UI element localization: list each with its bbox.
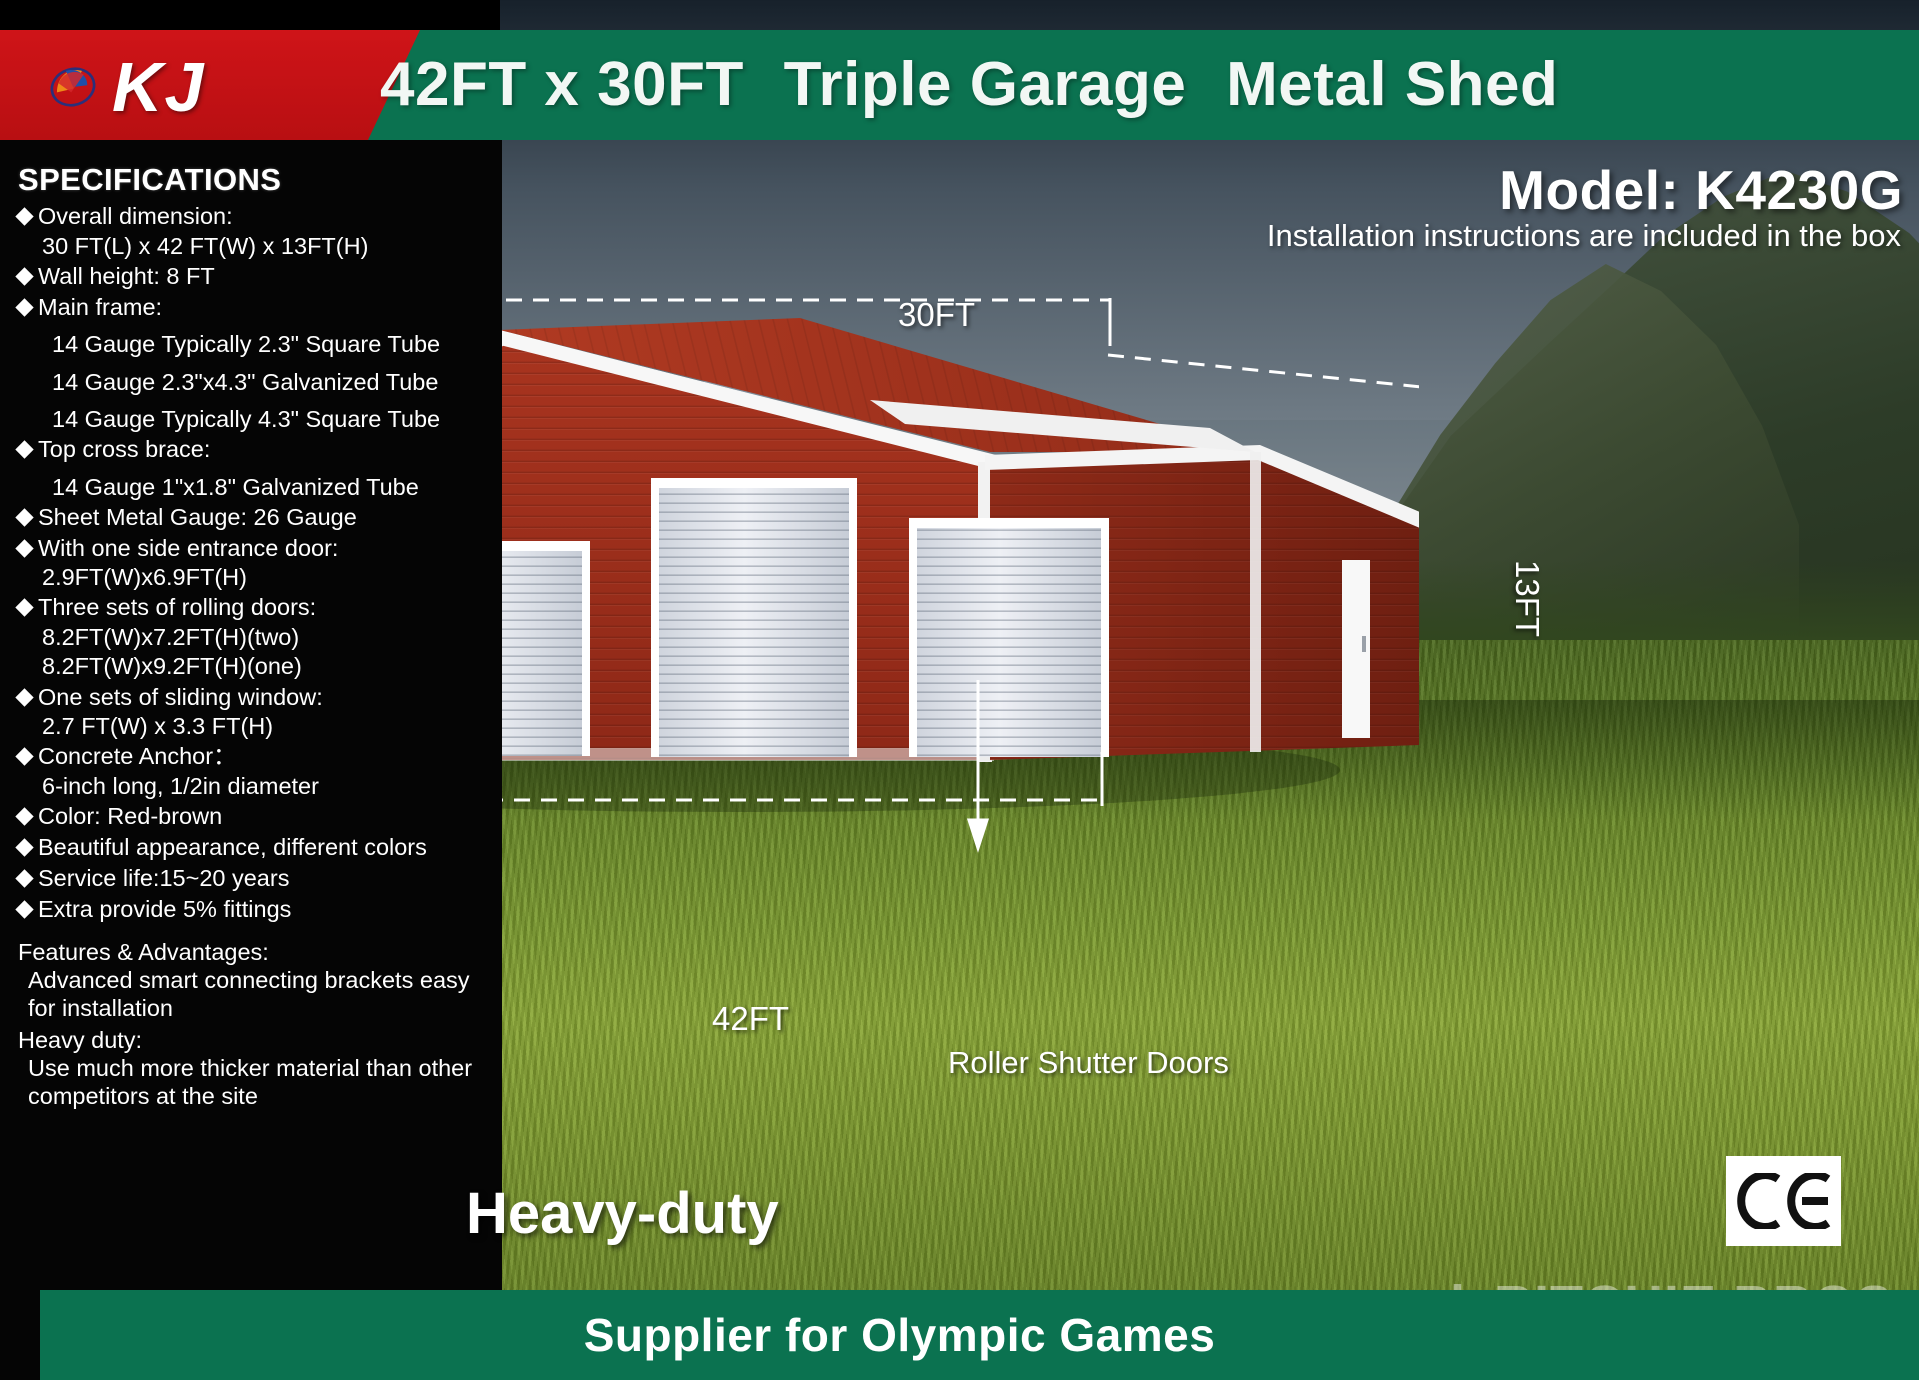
title-size: 42FT x 30FT	[380, 50, 744, 119]
heavy-duty-line-1: Use much more thicker material than othe…	[28, 1054, 488, 1082]
spec-sub-label: 14 Gauge 1"x1.8" Galvanized Tube	[52, 473, 488, 501]
spec-item: With one side entrance door:	[18, 535, 488, 563]
specifications-list: Overall dimension:30 FT(L) x 42 FT(W) x …	[18, 203, 488, 923]
spec-item-label: Extra provide 5% fittings	[38, 896, 291, 924]
diamond-bullet-icon	[15, 900, 33, 918]
footer-left-corner	[0, 1290, 40, 1380]
page-title: 42FT x 30FT Triple Garage Metal Shed	[380, 54, 1880, 116]
spec-item: Top cross brace:	[18, 436, 488, 464]
spec-item-label: With one side entrance door:	[38, 535, 338, 563]
footer-text: Supplier for Olympic Games	[0, 1290, 1919, 1380]
kj-swoosh-logo-icon	[46, 62, 100, 112]
diamond-bullet-icon	[15, 748, 33, 766]
spec-item-label: Wall height: 8 FT	[38, 263, 215, 291]
spec-item: Sheet Metal Gauge: 26 Gauge	[18, 504, 488, 532]
spec-item-label: Concrete Anchor：	[38, 743, 237, 771]
spec-item: One sets of sliding window:	[18, 684, 488, 712]
heavy-duty-line-2: competitors at the site	[28, 1082, 488, 1110]
features-line-2: for installation	[28, 994, 488, 1022]
spec-item-label: Beautiful appearance, different colors	[38, 834, 427, 862]
header-red-band: KJ	[0, 30, 420, 140]
dimension-label-width: 42FT	[712, 1000, 789, 1038]
spec-sub-label: 6-inch long, 1/2in diameter	[42, 772, 488, 800]
spec-sub-label: 8.2FT(W)x9.2FT(H)(one)	[42, 652, 488, 680]
features-heading: Features & Advantages:	[18, 939, 488, 966]
spec-item: Concrete Anchor：	[18, 743, 488, 771]
spec-item: Wall height: 8 FT	[18, 263, 488, 291]
heavy-duty-heading: Heavy duty:	[18, 1027, 488, 1054]
product-poster: KJ 42FT x 30FT Triple Garage Metal Shed …	[0, 0, 1919, 1380]
installation-note: Installation instructions are included i…	[1267, 218, 1901, 254]
spec-item: Service life:15~20 years	[18, 865, 488, 893]
specifications-heading: SPECIFICATIONS	[18, 162, 488, 198]
spec-sub-label: 14 Gauge Typically 4.3" Square Tube	[52, 405, 488, 433]
header-bar: KJ 42FT x 30FT Triple Garage Metal Shed	[0, 30, 1919, 140]
footer-banner: Supplier for Olympic Games	[0, 1290, 1919, 1380]
diamond-bullet-icon	[15, 688, 33, 706]
spec-item-label: Main frame:	[38, 294, 162, 322]
diamond-bullet-icon	[15, 267, 33, 285]
spec-sub-label: 14 Gauge 2.3"x4.3" Galvanized Tube	[52, 368, 488, 396]
diamond-bullet-icon	[15, 808, 33, 826]
spec-item: Extra provide 5% fittings	[18, 896, 488, 924]
spec-item: Beautiful appearance, different colors	[18, 834, 488, 862]
diamond-bullet-icon	[15, 298, 33, 316]
diamond-bullet-icon	[15, 869, 33, 887]
spec-item-label: Service life:15~20 years	[38, 865, 289, 893]
spec-item-label: Overall dimension:	[38, 203, 233, 231]
spec-item-label: Top cross brace:	[38, 436, 210, 464]
diamond-bullet-icon	[15, 838, 33, 856]
brand-name: KJ	[112, 52, 205, 122]
diamond-bullet-icon	[15, 207, 33, 225]
spec-sub-label: 30 FT(L) x 42 FT(W) x 13FT(H)	[42, 232, 488, 260]
spec-item: Color: Red-brown	[18, 803, 488, 831]
dimension-label-height: 13FT	[1508, 560, 1546, 637]
diamond-bullet-icon	[15, 508, 33, 526]
title-type: Metal Shed	[1226, 50, 1558, 119]
spec-item-label: Color: Red-brown	[38, 803, 222, 831]
spec-item-label: One sets of sliding window:	[38, 684, 323, 712]
heavy-duty-callout: Heavy-duty	[466, 1180, 779, 1247]
diamond-bullet-icon	[15, 539, 33, 557]
diamond-bullet-icon	[15, 599, 33, 617]
title-product: Triple Garage	[784, 50, 1187, 119]
spec-item: Overall dimension:	[18, 203, 488, 231]
spec-item-label: Sheet Metal Gauge: 26 Gauge	[38, 504, 357, 532]
spec-sub-label: 8.2FT(W)x7.2FT(H)(two)	[42, 623, 488, 651]
spec-sub-label: 2.9FT(W)x6.9FT(H)	[42, 563, 488, 591]
ce-mark	[1726, 1156, 1841, 1246]
spec-sub-label: 2.7 FT(W) x 3.3 FT(H)	[42, 712, 488, 740]
spec-item: Three sets of rolling doors:	[18, 594, 488, 622]
specifications-panel: SPECIFICATIONS Overall dimension:30 FT(L…	[0, 140, 502, 1290]
model-label: Model: K4230G	[1499, 158, 1903, 222]
features-line-1: Advanced smart connecting brackets easy	[28, 966, 488, 994]
dimension-label-depth: 30FT	[898, 296, 975, 334]
diamond-bullet-icon	[15, 440, 33, 458]
spec-item-label: Three sets of rolling doors:	[38, 594, 316, 622]
spec-sub-label: 14 Gauge Typically 2.3" Square Tube	[52, 330, 488, 358]
roller-shutter-doors-label: Roller Shutter Doors	[948, 1045, 1229, 1081]
spec-item: Main frame:	[18, 294, 488, 322]
ce-icon	[1736, 1173, 1832, 1229]
